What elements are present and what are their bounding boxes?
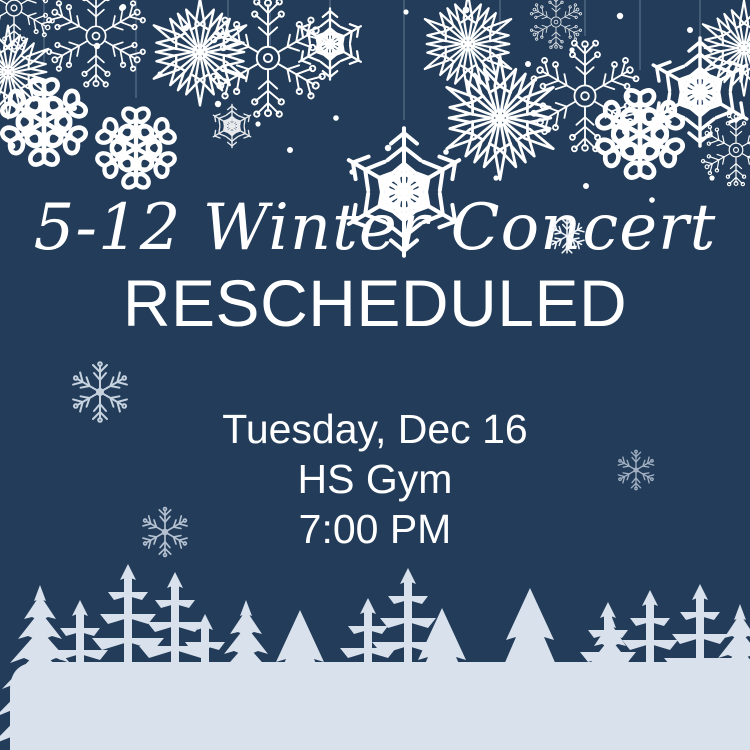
title-accent-snowflake xyxy=(0,0,750,750)
winter-concert-poster: 5-12 Winter Concert RESCHEDULED xyxy=(0,0,750,750)
tiny-snowflake-over-title-icon xyxy=(550,219,584,253)
